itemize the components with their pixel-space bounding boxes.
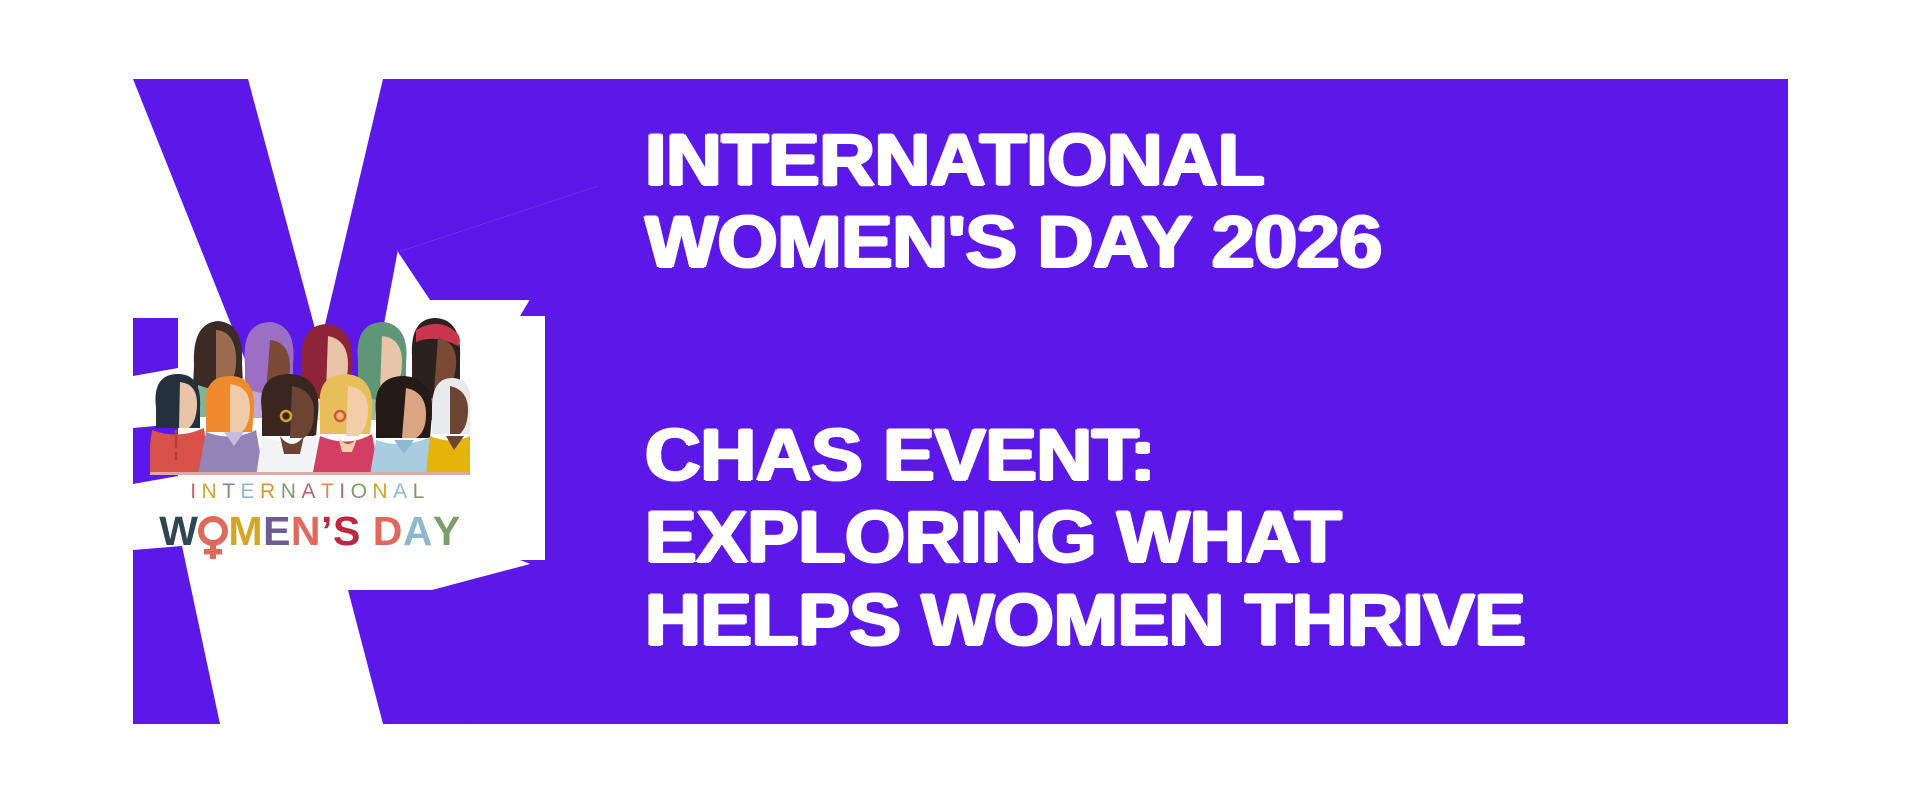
headline-block: INTERNATIONAL WOMEN'S DAY 2026	[645, 120, 1745, 285]
subhead-line-3: HELPS WOMEN THRIVE	[645, 580, 1811, 662]
wordmark-letter: Y	[433, 508, 461, 555]
wordmark-letter: A	[301, 480, 321, 504]
wordmark-letter: M	[228, 508, 263, 555]
crowd-illustration	[150, 290, 470, 475]
wordmark-letter: D	[373, 508, 403, 555]
wordmark-letter: ’	[321, 508, 333, 555]
wordmark-letter: N	[202, 480, 223, 504]
wordmark-letter: R	[260, 480, 281, 504]
headline-line-2: WOMEN'S DAY 2026	[645, 202, 1811, 284]
wordmark-letter: E	[241, 480, 261, 504]
wordmark-letter: A	[403, 508, 433, 555]
wordmark-letter: T	[321, 480, 339, 504]
logo-wordmark-womensday: WMEN’S DAY	[150, 508, 470, 555]
logo-wordmark-international: INTERNATIONAL	[150, 480, 470, 504]
wordmark-letter: I	[190, 480, 201, 504]
subhead-line-1: CHAS EVENT:	[645, 415, 1811, 497]
iwd-logo-lockup: INTERNATIONAL WMEN’S DAY	[150, 290, 470, 570]
wordmark-letter: T	[222, 480, 240, 504]
iwd-2026-banner: INTERNATIONAL WMEN’S DAY INTERNATIONAL W…	[0, 0, 1920, 800]
wordmark-letter: S	[333, 508, 361, 555]
wordmark-letter: E	[263, 508, 291, 555]
wordmark-letter	[361, 508, 373, 555]
front-row-figures	[150, 374, 470, 475]
wordmark-letter: O	[351, 480, 373, 504]
wordmark-letter: N	[281, 480, 302, 504]
headline-line-1: INTERNATIONAL	[645, 120, 1811, 202]
subhead-line-2: EXPLORING WHAT	[645, 497, 1811, 579]
logo-baseline	[150, 472, 470, 475]
wordmark-letter: N	[291, 508, 321, 555]
wordmark-letter: L	[413, 480, 430, 504]
wordmark-letter: I	[339, 480, 350, 504]
subhead-block: CHAS EVENT: EXPLORING WHAT HELPS WOMEN T…	[645, 415, 1745, 662]
wordmark-letter: W	[159, 508, 198, 555]
wordmark-letter: N	[372, 480, 393, 504]
wordmark-letter: A	[393, 480, 413, 504]
